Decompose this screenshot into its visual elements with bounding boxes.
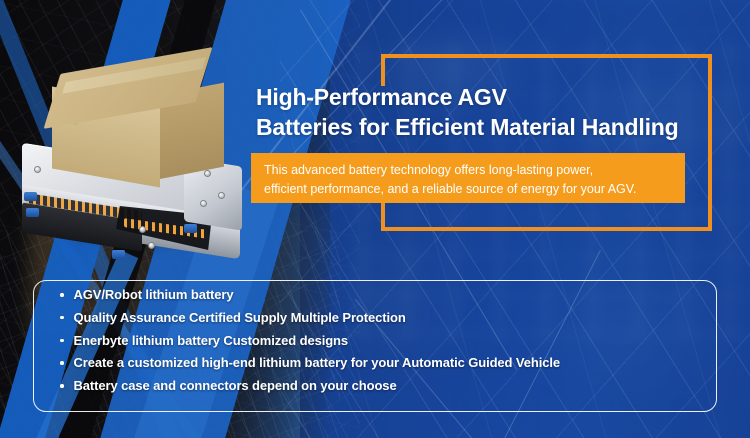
- bullet-dot-icon: [60, 384, 64, 388]
- frame-bottom-edge: [381, 227, 712, 231]
- list-item-label: AGV/Robot lithium battery: [74, 287, 234, 302]
- frame-top-edge: [381, 54, 712, 58]
- headline-line-2: Batteries for Efficient Material Handlin…: [256, 112, 726, 142]
- subtitle-box: This advanced battery technology offers …: [251, 153, 685, 203]
- list-item: Quality Assurance Certified Supply Multi…: [60, 310, 700, 325]
- headline-line-1: High-Performance AGV: [256, 82, 726, 112]
- agv-bolt-3: [112, 250, 125, 259]
- agv-bolt-1: [24, 192, 37, 201]
- list-item: Enerbyte lithium battery Customized desi…: [60, 333, 700, 348]
- agv-screw-2: [204, 170, 211, 177]
- list-item-label: Battery case and connectors depend on yo…: [74, 378, 397, 393]
- bullet-dot-icon: [60, 361, 64, 365]
- agv-screw-6: [148, 242, 155, 249]
- bullet-dot-icon: [60, 293, 64, 297]
- agv-bolt-4: [184, 224, 197, 233]
- frame-left-bottom-stub: [381, 199, 385, 231]
- agv-screw-5: [139, 226, 146, 233]
- list-item-label: Create a customized high-end lithium bat…: [74, 355, 561, 370]
- agv-screw-1: [34, 166, 41, 173]
- subtitle-line-2: efficient performance, and a reliable so…: [264, 180, 673, 199]
- agv-screw-3: [218, 192, 225, 199]
- subtitle-line-1: This advanced battery technology offers …: [264, 161, 673, 180]
- list-item-label: Enerbyte lithium battery Customized desi…: [74, 333, 349, 348]
- product-banner: High-Performance AGV Batteries for Effic…: [0, 0, 750, 438]
- list-item: Create a customized high-end lithium bat…: [60, 355, 700, 370]
- agv-screw-4: [200, 200, 207, 207]
- list-item: AGV/Robot lithium battery: [60, 287, 700, 302]
- agv-bolt-2: [26, 208, 39, 217]
- feature-list: AGV/Robot lithium battery Quality Assura…: [60, 287, 700, 401]
- list-item: Battery case and connectors depend on yo…: [60, 378, 700, 393]
- bullet-dot-icon: [60, 339, 64, 343]
- agv-robot-image: [8, 52, 268, 267]
- bullet-dot-icon: [60, 316, 64, 320]
- headline: High-Performance AGV Batteries for Effic…: [256, 82, 726, 143]
- list-item-label: Quality Assurance Certified Supply Multi…: [74, 310, 406, 325]
